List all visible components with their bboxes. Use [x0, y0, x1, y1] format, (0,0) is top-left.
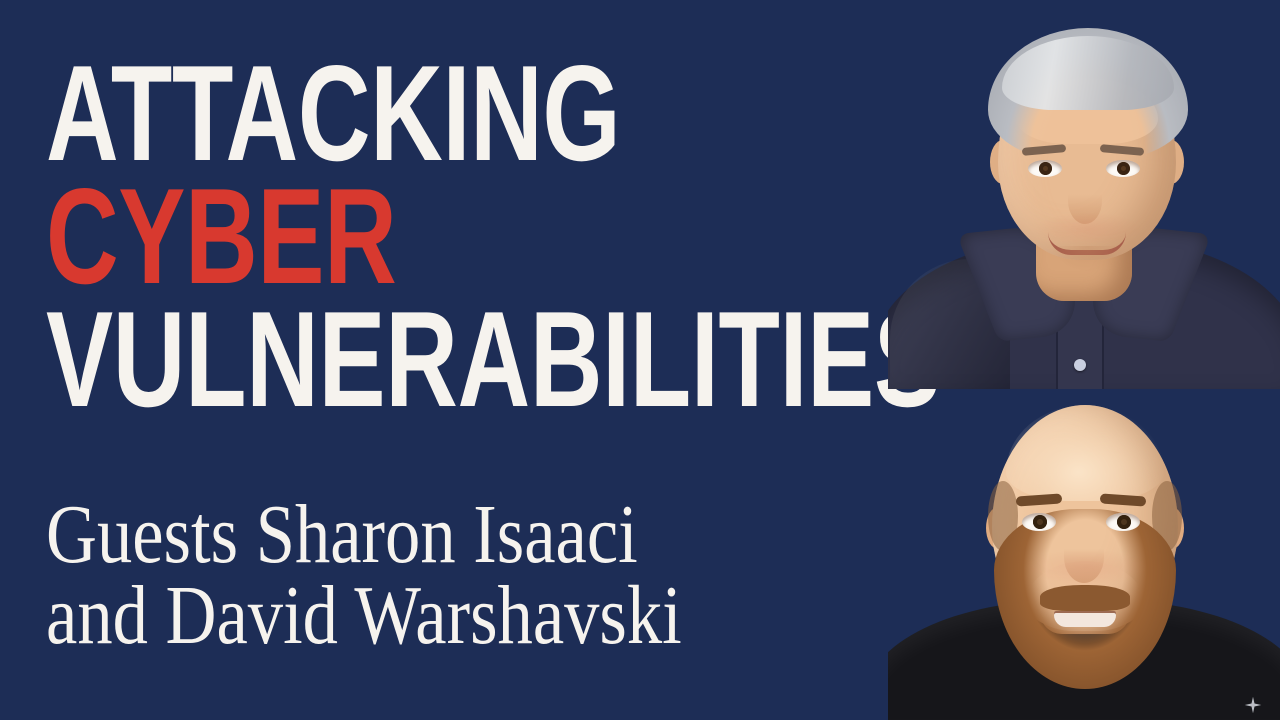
moustache [1040, 585, 1130, 611]
eye-right [1106, 513, 1140, 531]
headline-line-2-accent: CYBER [46, 175, 653, 298]
subtitle-group: Guests Sharon Isaaci and David Warshavsk… [46, 494, 886, 656]
subtitle-line-1: Guests Sharon Isaaci [46, 494, 752, 575]
portrait-column [888, 0, 1280, 720]
chin-shading [1052, 246, 1122, 272]
sparkle-icon [1244, 696, 1262, 714]
eye-left [1022, 513, 1056, 531]
bald-scalp-highlight [1006, 405, 1164, 501]
headline-line-1: ATTACKING [46, 52, 653, 175]
subtitle-line-2: and David Warshavski [46, 575, 752, 656]
eye-left [1028, 160, 1062, 177]
gray-hair [988, 28, 1188, 160]
portrait-photo-top [888, 0, 1280, 389]
smile [1054, 613, 1116, 627]
shirt-button [1074, 359, 1086, 371]
headline-group: ATTACKING CYBER VULNERABILITIES [46, 52, 866, 421]
portrait-photo-bottom [888, 389, 1280, 720]
title-text-block: ATTACKING CYBER VULNERABILITIES Guests S… [46, 0, 866, 720]
video-title-slide: ATTACKING CYBER VULNERABILITIES Guests S… [0, 0, 1280, 720]
eye-right [1106, 160, 1140, 177]
headline-line-3: VULNERABILITIES [46, 298, 653, 421]
cheek-shading [1024, 549, 1148, 585]
